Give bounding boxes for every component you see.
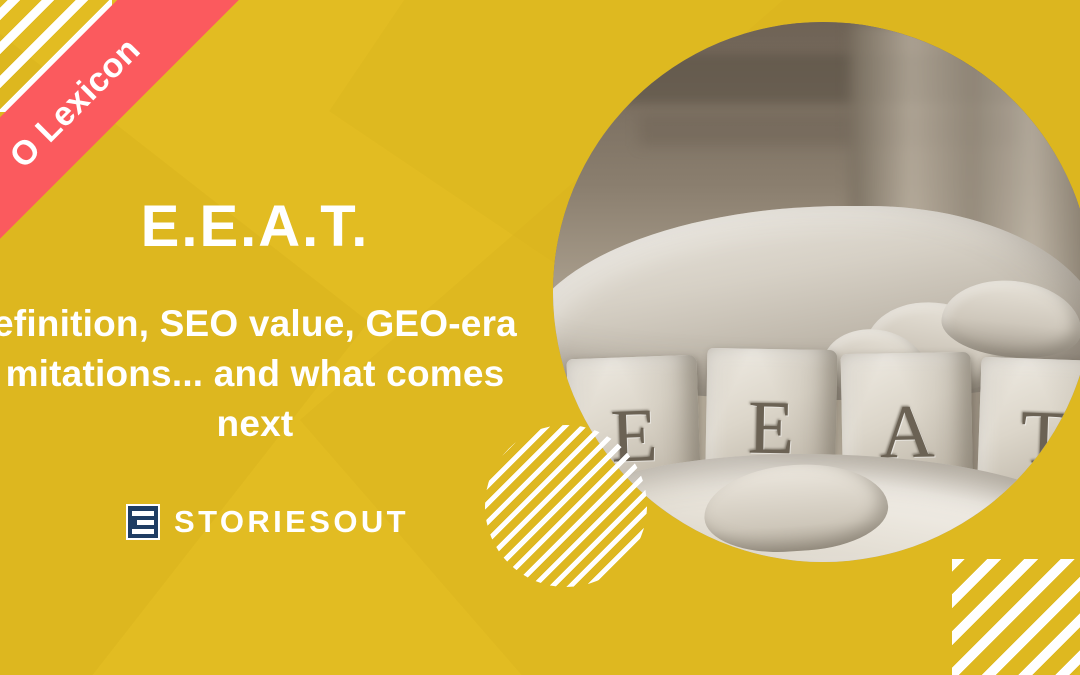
logo-bar [132, 511, 154, 516]
logo-bar [137, 520, 154, 525]
promo-banner: E E A T O Lexicon E.E.A.T. efinition, SE… [0, 0, 1080, 675]
stone-letter: T [1019, 400, 1068, 478]
brand-name: STORIESOUT [174, 504, 409, 540]
logo-bar [132, 529, 154, 534]
page-subtitle: efinition, SEO value, GEO-era mitations.… [0, 299, 540, 450]
page-title: E.E.A.T. [0, 195, 540, 259]
banner-text-block: E.E.A.T. efinition, SEO value, GEO-era m… [0, 195, 540, 450]
brand-logo[interactable]: STORIESOUT [126, 504, 409, 540]
stacked-bars-mark-icon [126, 504, 160, 540]
architecture-beam [607, 54, 1071, 103]
architecture-beam-secondary [639, 114, 1017, 146]
diagonal-stripes-bottom-right-icon [952, 559, 1080, 675]
